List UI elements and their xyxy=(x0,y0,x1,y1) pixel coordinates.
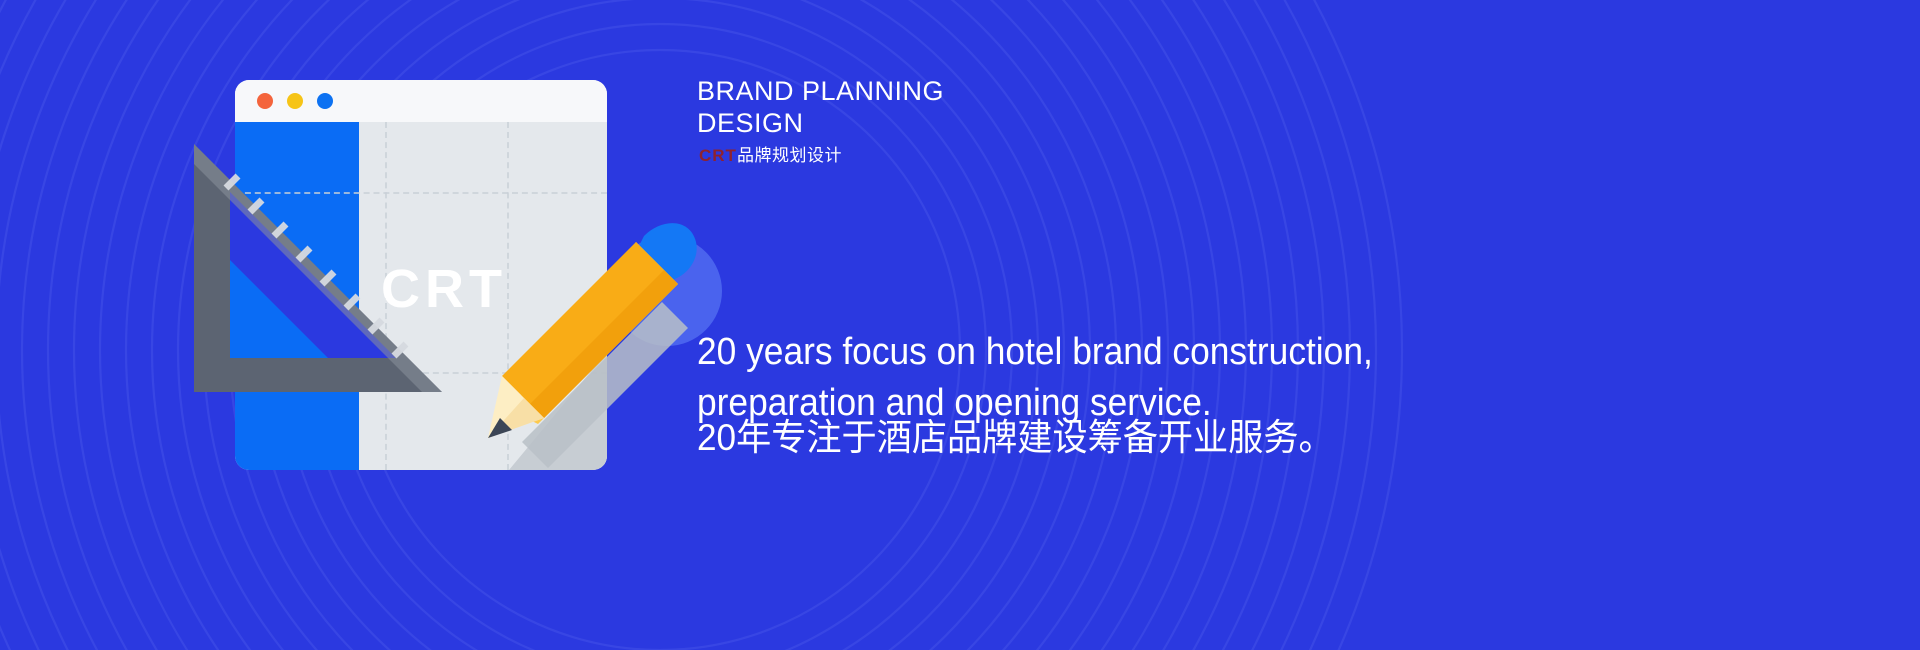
headline-cn: 20年专注于酒店品牌建设筹备开业服务。 xyxy=(697,413,1334,463)
triangle-ruler-icon xyxy=(190,140,446,400)
pencil-icon xyxy=(448,220,698,470)
brand-banner: CRT xyxy=(0,0,1920,650)
close-dot[interactable] xyxy=(257,93,273,109)
minimize-dot[interactable] xyxy=(287,93,303,109)
hero-illustration: CRT xyxy=(190,60,690,530)
window-controls xyxy=(257,93,333,109)
eyebrow-cn-text: 品牌规划设计 xyxy=(737,146,842,165)
window-titlebar xyxy=(235,80,607,122)
eyebrow-title-cn: CRT品牌规划设计 xyxy=(699,141,842,166)
eyebrow-title-en: BRAND PLANNING DESIGN xyxy=(697,76,944,140)
crt-brand-mark: CRT xyxy=(699,146,737,165)
banner-copy: BRAND PLANNING DESIGN CRT品牌规划设计 20 years… xyxy=(697,0,1877,650)
maximize-dot[interactable] xyxy=(317,93,333,109)
